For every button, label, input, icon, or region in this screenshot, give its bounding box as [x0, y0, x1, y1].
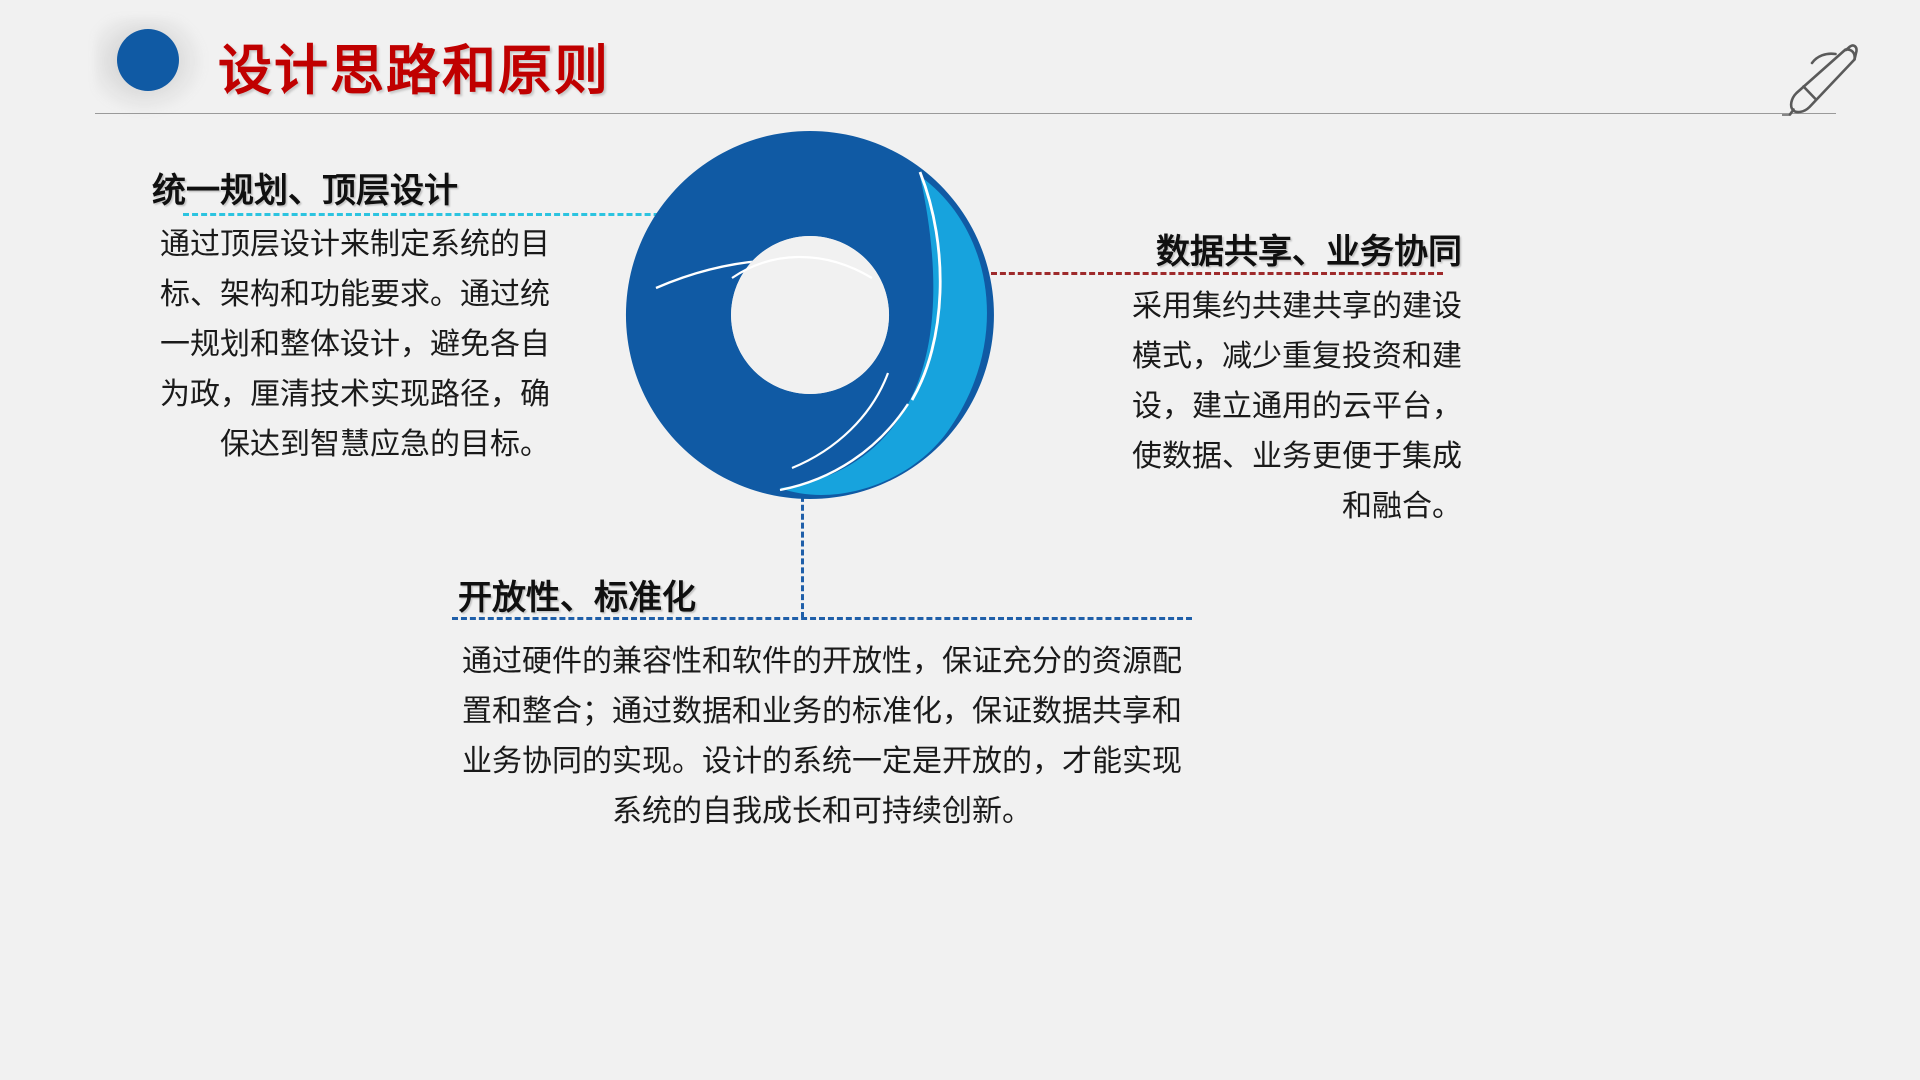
- left-heading: 统一规划、顶层设计: [140, 163, 560, 212]
- right-heading: 数据共享、业务协同: [1110, 224, 1462, 273]
- donut-hole: [731, 236, 889, 394]
- text-block-left: 统一规划、顶层设计 通过顶层设计来制定系统的目标、架构和功能要求。通过统一规划和…: [140, 163, 560, 470]
- slide-header: 设计思路和原则: [0, 0, 1920, 122]
- bottom-heading: 开放性、标准化: [452, 570, 1192, 619]
- left-body: 通过顶层设计来制定系统的目标、架构和功能要求。通过统一规划和整体设计，避免各自为…: [140, 220, 554, 470]
- page-title: 设计思路和原则: [218, 26, 610, 105]
- right-body: 采用集约共建共享的建设模式，减少重复投资和建设，建立通用的云平台，使数据、业务更…: [1110, 282, 1462, 532]
- slide-root: 设计思路和原则: [0, 0, 1920, 1080]
- text-block-right: 数据共享、业务协同 采用集约共建共享的建设模式，减少重复投资和建设，建立通用的云…: [1110, 224, 1462, 532]
- header-divider: [95, 113, 1836, 114]
- pen-icon: [1782, 36, 1872, 120]
- bottom-body: 通过硬件的兼容性和软件的开放性，保证充分的资源配置和整合；通过数据和业务的标准化…: [452, 627, 1192, 837]
- circle-bullet-icon: [117, 29, 179, 91]
- text-block-bottom: 开放性、标准化 通过硬件的兼容性和软件的开放性，保证充分的资源配置和整合；通过数…: [452, 570, 1192, 837]
- trefoil-donut-diagram: [620, 128, 1000, 503]
